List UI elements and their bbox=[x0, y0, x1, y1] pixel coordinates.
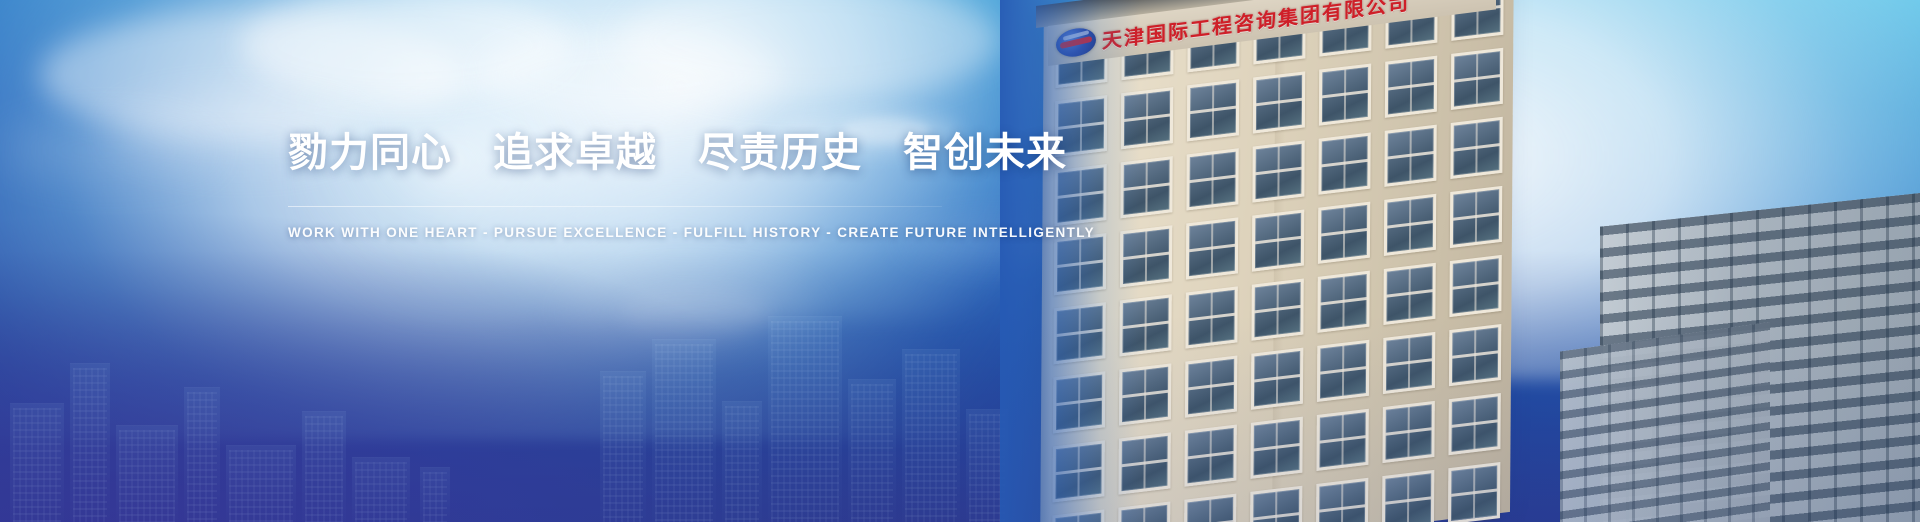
window bbox=[1319, 63, 1371, 125]
window bbox=[1384, 125, 1436, 187]
facade-pilaster bbox=[1040, 6, 1054, 522]
window bbox=[1052, 509, 1104, 522]
window bbox=[1448, 393, 1500, 455]
window bbox=[1252, 140, 1304, 202]
window bbox=[1317, 340, 1369, 402]
title-divider bbox=[288, 206, 942, 207]
window bbox=[1120, 225, 1172, 287]
hero-subtitle: WORK WITH ONE HEART - PURSUE EXCELLENCE … bbox=[288, 225, 988, 240]
window bbox=[1121, 87, 1173, 149]
window bbox=[1053, 371, 1105, 433]
window bbox=[1119, 363, 1171, 425]
window bbox=[1053, 302, 1105, 364]
window bbox=[1052, 440, 1104, 502]
window bbox=[1253, 71, 1305, 133]
window bbox=[1383, 263, 1435, 325]
window bbox=[1450, 186, 1502, 248]
hero-copy-block: 勠力同心 追求卓越 尽责历史 智创未来 WORK WITH ONE HEART … bbox=[288, 128, 988, 240]
window bbox=[1450, 117, 1502, 179]
hero-banner: 天津国际工程咨询集团有限公司 勠力同心 追求卓越 尽责历史 智创未来 WORK … bbox=[0, 0, 1920, 522]
window bbox=[1118, 432, 1170, 494]
window bbox=[1185, 286, 1237, 348]
window bbox=[1252, 209, 1304, 271]
window bbox=[1119, 294, 1171, 356]
window bbox=[1382, 401, 1434, 463]
window bbox=[1318, 133, 1370, 195]
window bbox=[1250, 417, 1302, 479]
window bbox=[1186, 217, 1238, 279]
window bbox=[1054, 233, 1106, 295]
window-grid bbox=[1052, 0, 1504, 522]
window bbox=[1250, 486, 1302, 522]
window bbox=[1317, 271, 1369, 333]
window bbox=[1185, 355, 1237, 417]
background-tower-secondary bbox=[1560, 322, 1770, 522]
window bbox=[1187, 79, 1239, 141]
window bbox=[1316, 409, 1368, 471]
main-office-tower bbox=[1040, 0, 1514, 522]
window bbox=[1451, 48, 1503, 110]
window bbox=[1318, 202, 1370, 264]
window bbox=[1251, 279, 1303, 341]
window bbox=[1118, 501, 1170, 522]
window bbox=[1186, 148, 1238, 210]
window bbox=[1251, 348, 1303, 410]
building-icon: 天津国际工程咨询集团有限公司 bbox=[1000, 0, 1920, 522]
window bbox=[1184, 425, 1236, 487]
window bbox=[1120, 156, 1172, 218]
window bbox=[1316, 478, 1368, 522]
company-logo-icon bbox=[1056, 26, 1096, 59]
window bbox=[1383, 332, 1435, 394]
window bbox=[1384, 194, 1436, 256]
window bbox=[1184, 494, 1236, 522]
window bbox=[1448, 462, 1500, 522]
window bbox=[1382, 470, 1434, 522]
window bbox=[1449, 255, 1501, 317]
page-title: 勠力同心 追求卓越 尽责历史 智创未来 bbox=[288, 128, 988, 178]
window bbox=[1385, 56, 1437, 118]
window bbox=[1449, 324, 1501, 386]
